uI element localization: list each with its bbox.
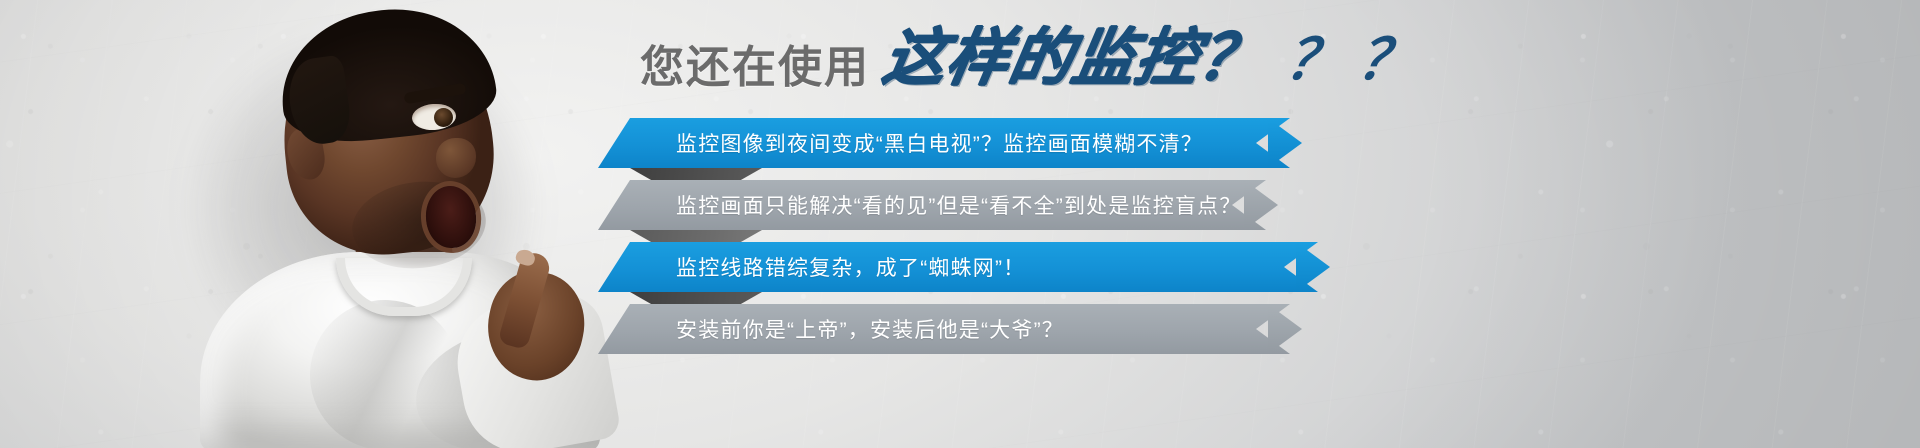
headline-question-marks: ？？	[1271, 32, 1435, 90]
promo-banner: 您还在使用 这样的监控？ ？？ 监控图像到夜间变成“黑白电视”？监控画面模糊不清…	[0, 0, 1920, 448]
headline-lead: 您还在使用	[640, 46, 870, 90]
pain-point-text: 监控图像到夜间变成“黑白电视”？监控画面模糊不清？	[598, 128, 1203, 158]
pain-point-text: 监控线路错综复杂，成了“蜘蛛网”！	[598, 252, 1025, 282]
headline: 您还在使用 这样的监控？ ？？	[640, 28, 1430, 90]
pain-point-bar-2[interactable]: 监控画面只能解决“看的见”但是“看不全”到处是监控盲点？	[598, 180, 1266, 230]
pain-point-bar-3[interactable]: 监控线路错综复杂，成了“蜘蛛网”！	[598, 242, 1318, 292]
pain-point-bar-1[interactable]: 监控图像到夜间变成“黑白电视”？监控画面模糊不清？	[598, 118, 1290, 168]
pain-point-bar-4[interactable]: 安装前你是“上帝”，安装后他是“大爷”？	[598, 304, 1290, 354]
person-iris	[434, 108, 453, 127]
pain-point-text: 安装前你是“上帝”，安装后他是“大爷”？	[598, 314, 1064, 344]
pain-point-text: 监控画面只能解决“看的见”但是“看不全”到处是监控盲点？	[598, 190, 1242, 220]
headline-emphasis: 这样的监控？	[879, 28, 1268, 90]
